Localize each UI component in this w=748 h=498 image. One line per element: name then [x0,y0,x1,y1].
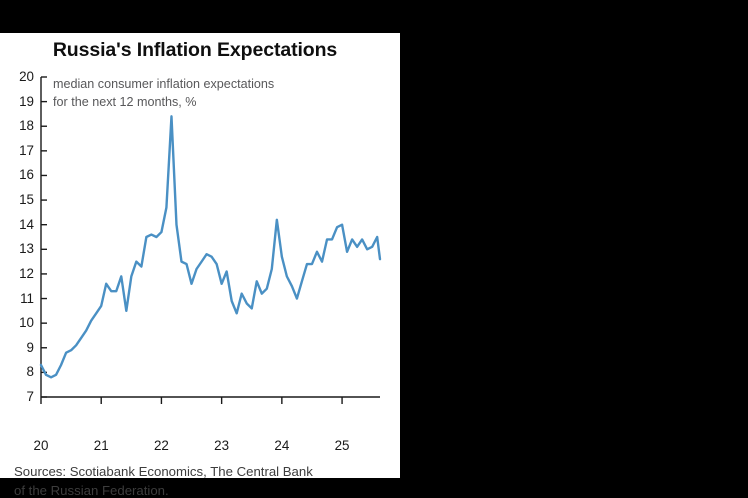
y-axis-tick-label: 8 [4,364,34,379]
y-axis-tick-label: 9 [4,340,34,355]
y-axis-tick-label: 20 [4,69,34,84]
x-axis-tick-label: 20 [21,438,61,453]
axis-lines [41,77,380,397]
chart-panel: Russia's Inflation Expectations median c… [0,33,400,478]
x-axis-ticks [41,397,342,404]
figure-root: Russia's Inflation Expectations median c… [0,0,748,483]
x-axis-tick-label: 23 [202,438,242,453]
y-axis-tick-label: 11 [4,291,34,306]
x-axis-tick-label: 24 [262,438,302,453]
y-axis-tick-label: 7 [4,389,34,404]
plot-area [0,33,400,478]
source-note-line-2: of the Russian Federation. [14,483,169,498]
source-note-line-1: Sources: Scotiabank Economics, The Centr… [14,464,313,479]
x-axis-tick-label: 25 [322,438,362,453]
y-axis-tick-label: 14 [4,217,34,232]
y-axis-tick-label: 12 [4,266,34,281]
y-axis-tick-label: 17 [4,143,34,158]
y-axis-ticks [41,77,47,397]
y-axis-tick-label: 15 [4,192,34,207]
y-axis-tick-label: 13 [4,241,34,256]
x-axis-tick-label: 22 [141,438,181,453]
y-axis-tick-label: 10 [4,315,34,330]
inflation-expectations-line [41,116,380,377]
y-axis-tick-label: 16 [4,167,34,182]
y-axis-tick-label: 19 [4,94,34,109]
x-axis-tick-label: 21 [81,438,121,453]
y-axis-tick-label: 18 [4,118,34,133]
